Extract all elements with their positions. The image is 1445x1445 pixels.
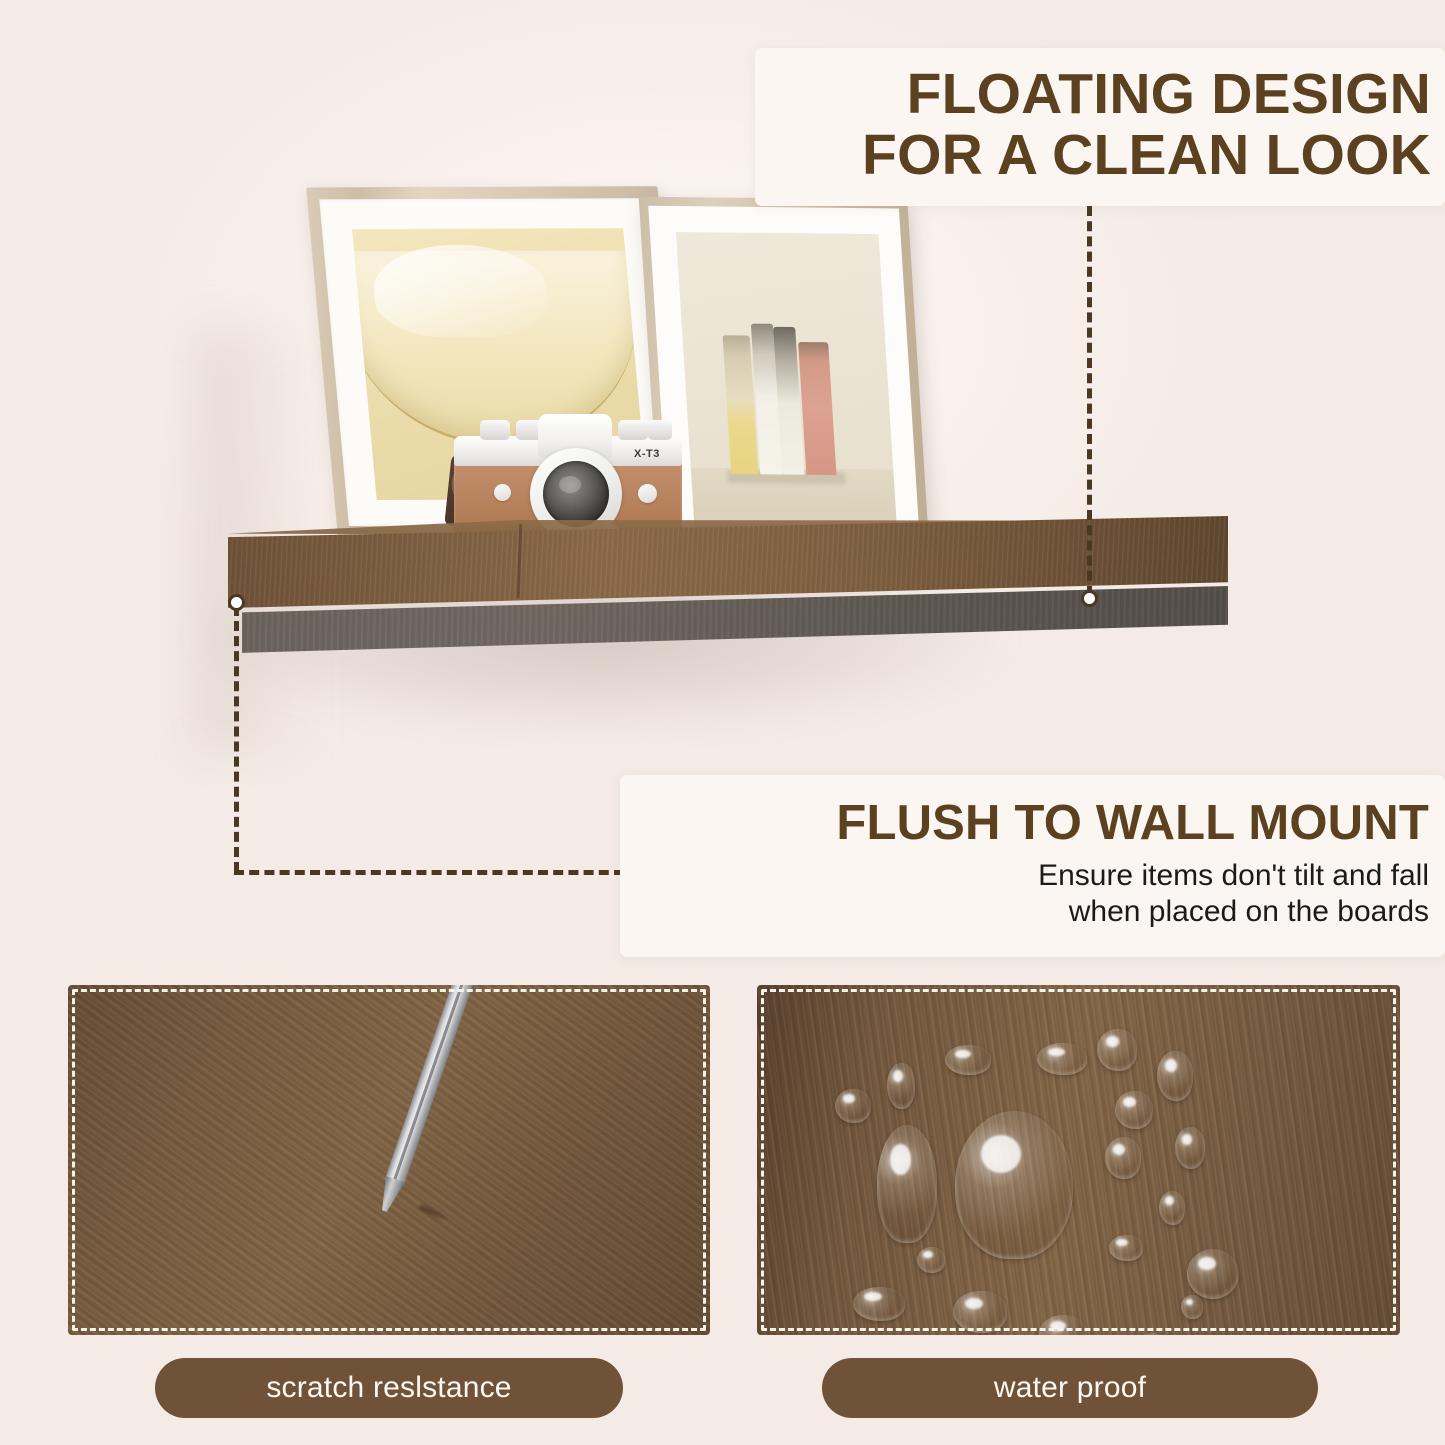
water-droplet [835,1089,871,1123]
dashed-connector-left-horizontal [234,870,624,875]
artwork-still-life-bottles [676,232,897,536]
camera-model-label: X-T3 [634,448,660,460]
badge-scratch-resistance: scratch reslstance [155,1358,623,1418]
callout-panel-floating-design: FLOATING DESIGN FOR A CLEAN LOOK [755,48,1445,206]
camera-button [494,484,511,501]
wood-texture [757,985,1400,1335]
callout-dot-right-icon [1081,590,1098,607]
water-droplet [1181,1295,1203,1319]
artwork-book-red [798,342,837,475]
water-droplet [1037,1043,1087,1075]
callout-subtext-line1: Ensure items don't tilt and fall [1038,858,1429,895]
water-droplet [887,1063,915,1109]
callout-dot-left-icon [228,594,245,611]
water-droplet [1115,1091,1153,1129]
floating-shelf [228,516,1228,696]
water-droplet [1157,1051,1193,1101]
water-droplet [1187,1249,1239,1299]
screwdriver-tip [375,1176,405,1215]
dashed-connector-right [1087,206,1092,596]
water-droplet [1175,1127,1205,1169]
water-droplet [953,1291,1007,1333]
water-droplet [917,1247,945,1273]
water-droplet [955,1111,1073,1259]
badge-water-proof: water proof [822,1358,1318,1418]
water-droplet [945,1045,991,1075]
water-droplet [1159,1191,1185,1225]
camera-dial [648,420,672,440]
infographic-canvas: X-T3 FLOATING DESIGN FOR A CLEAN LOOK FL… [0,0,1445,1445]
callout-headline-line2: FOR A CLEAN LOOK [862,125,1431,186]
detail-photo-scratch-resistance [68,985,710,1335]
callout-headline-line1: FLOATING DESIGN [907,64,1431,125]
water-droplet [1097,1029,1137,1071]
camera-dial [618,420,648,440]
water-droplet [1105,1137,1141,1179]
detail-photo-waterproof [757,985,1400,1335]
callout-panel-flush-mount: FLUSH TO WALL MOUNT Ensure items don't t… [620,775,1445,957]
camera-dial [480,420,510,440]
water-droplet [877,1125,937,1243]
dashed-connector-left-vertical [234,606,239,872]
water-droplet [853,1287,905,1321]
water-droplet [1109,1235,1143,1261]
callout-subtext-line2: when placed on the boards [1069,894,1429,931]
camera-button [638,484,657,503]
callout-headline-line1: FLUSH TO WALL MOUNT [836,797,1429,849]
